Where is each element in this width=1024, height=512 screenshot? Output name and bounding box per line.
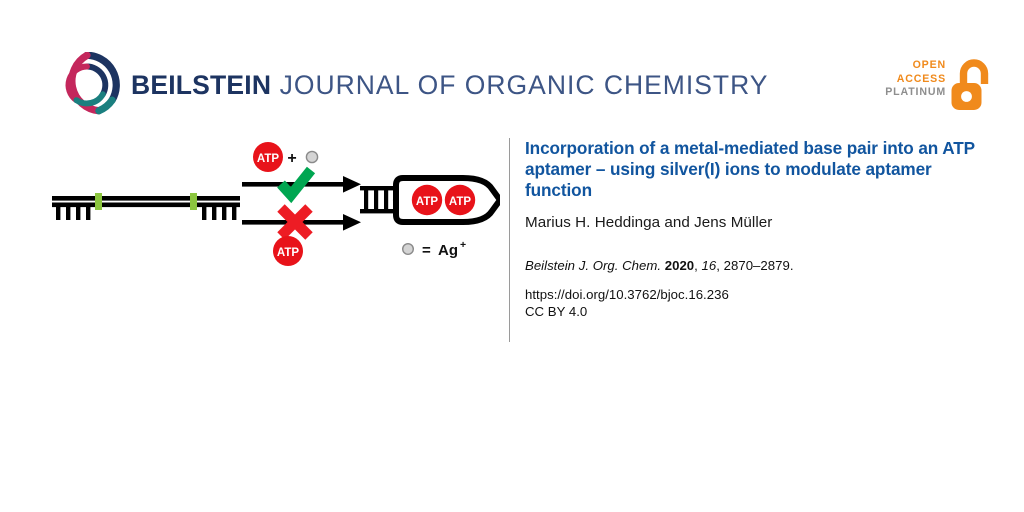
citation-comma-1: ,	[694, 258, 701, 273]
linear-aptamer-strand	[52, 193, 240, 220]
citation-pages: 2870–2879.	[724, 258, 794, 273]
article-doi-link[interactable]: https://doi.org/10.3762/bjoc.16.236	[525, 287, 989, 302]
legend-charge-label: +	[460, 239, 466, 251]
wordmark-light-text	[271, 70, 279, 100]
wordmark-bold-text: BEILSTEIN	[131, 70, 271, 100]
bound-atp-label-2: ATP	[449, 196, 471, 208]
wordmark-subtitle-text: JOURNAL OF ORGANIC CHEMISTRY	[280, 70, 769, 100]
article-info-panel: Incorporation of a metal-mediated base p…	[509, 138, 989, 342]
folded-aptamer-complex: ATP ATP	[360, 178, 500, 222]
open-access-line-platinum: PLATINUM	[885, 86, 946, 100]
legend-equals-sign: =	[422, 242, 431, 259]
open-access-label: OPEN ACCESS PLATINUM	[885, 59, 946, 100]
plus-sign: +	[287, 150, 296, 167]
open-padlock-icon	[950, 58, 992, 112]
green-check-icon	[281, 170, 311, 195]
graphical-abstract-figure: ATP + ATP	[30, 132, 500, 282]
silver-ion-circle	[306, 151, 317, 162]
reaction-arrow-failure	[242, 208, 361, 236]
citation-comma-2: ,	[716, 258, 723, 273]
beilstein-spiral-logo[interactable]	[54, 52, 120, 118]
atp-ligand-label-bottom: ATP	[277, 247, 299, 259]
reagent-group-bottom: ATP	[273, 236, 303, 266]
open-access-line-access: ACCESS	[885, 73, 946, 87]
citation-journal: Beilstein J. Org. Chem.	[525, 258, 661, 273]
reagent-group-top: ATP +	[253, 142, 318, 172]
bound-atp-label-1: ATP	[416, 196, 438, 208]
arrowhead-top	[343, 176, 361, 193]
journal-wordmark: BEILSTEIN JOURNAL OF ORGANIC CHEMISTRY	[131, 70, 768, 101]
reaction-arrow-success	[242, 170, 361, 195]
open-access-line-open: OPEN	[885, 59, 946, 73]
arrowhead-bottom	[343, 214, 361, 231]
citation-volume: 16	[702, 258, 717, 273]
figure-legend: = Ag +	[403, 239, 466, 259]
citation-year: 2020	[665, 258, 694, 273]
article-authors: Marius H. Heddinga and Jens Müller	[525, 214, 989, 231]
article-license: CC BY 4.0	[525, 304, 989, 319]
masthead: BEILSTEIN JOURNAL OF ORGANIC CHEMISTRY O…	[0, 0, 1024, 130]
article-citation: Beilstein J. Org. Chem. 2020, 16, 2870–2…	[525, 258, 989, 273]
open-access-badge[interactable]: OPEN ACCESS PLATINUM	[880, 58, 992, 116]
article-title: Incorporation of a metal-mediated base p…	[525, 138, 975, 200]
legend-silver-ion-circle	[403, 244, 414, 255]
atp-ligand-label: ATP	[257, 153, 279, 165]
legend-silver-label: Ag	[438, 242, 458, 259]
